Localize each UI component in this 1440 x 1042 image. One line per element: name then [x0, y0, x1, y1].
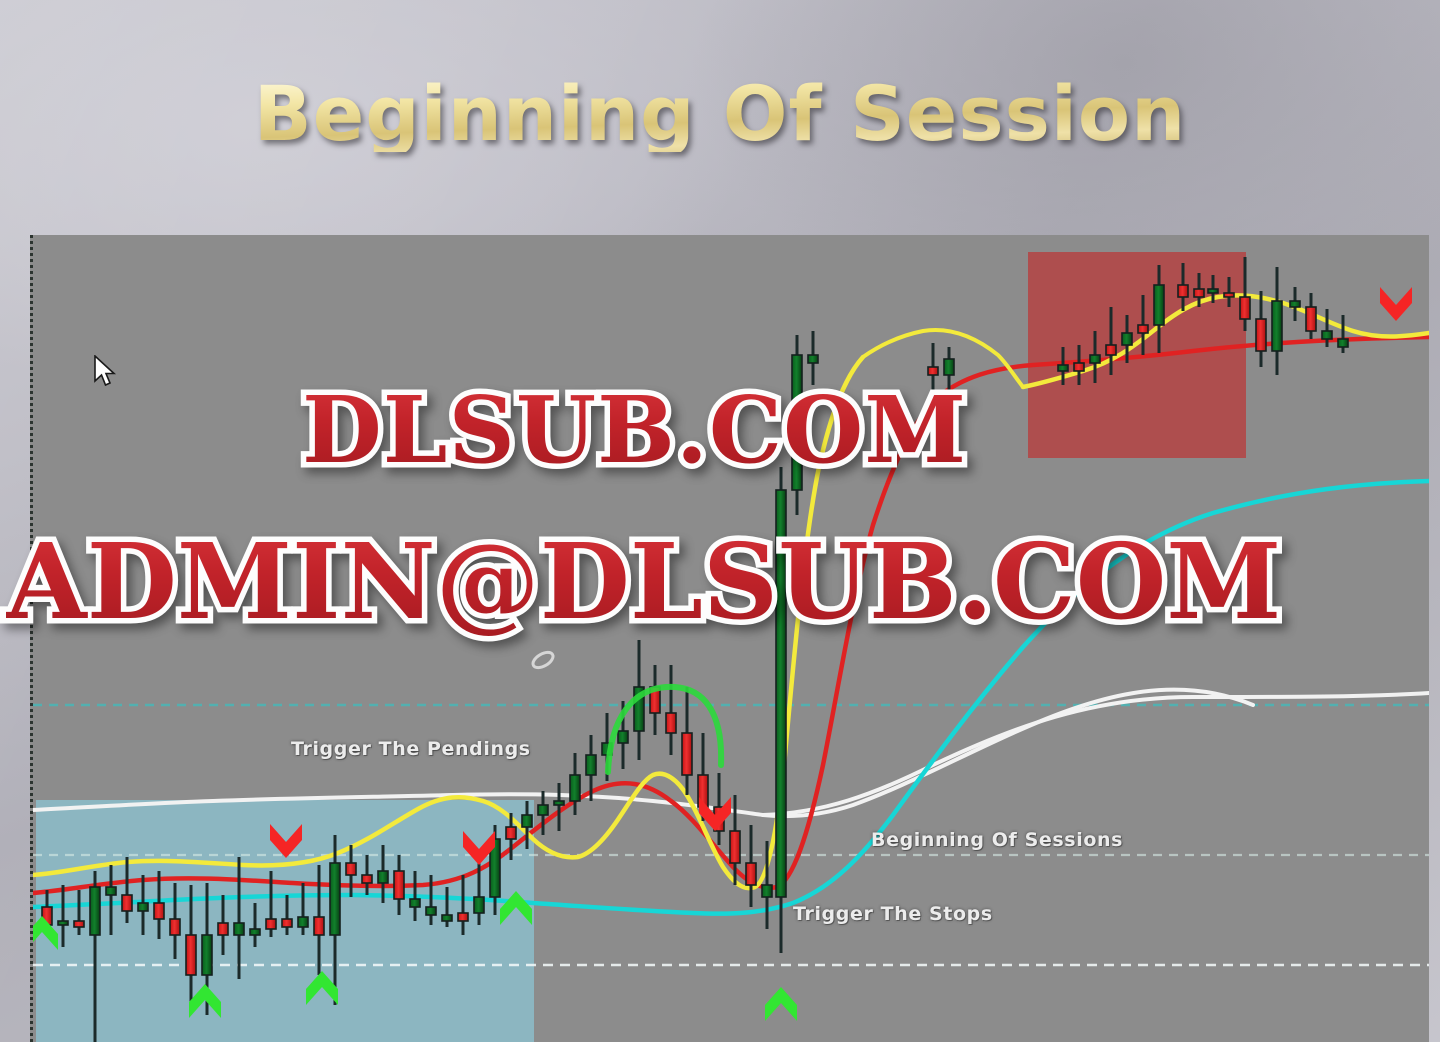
ma-red-line-upper — [938, 337, 1429, 397]
candle-bearish — [218, 923, 228, 935]
candle-bearish — [746, 863, 756, 885]
buy-arrow — [189, 984, 221, 1018]
candle-bullish — [1208, 289, 1218, 293]
candle-bearish — [1178, 285, 1188, 297]
candle-bearish — [154, 903, 164, 919]
candle-bearish — [282, 919, 292, 927]
candle-bearish — [1074, 363, 1084, 371]
candle-bullish — [250, 929, 260, 935]
candle-bearish — [346, 863, 356, 875]
candle-bullish — [1290, 301, 1300, 307]
annotation-beginning-of-sessions: Beginning Of Sessions — [871, 829, 1123, 851]
email-watermark: ADMIN@DLSUB.COM — [6, 520, 1281, 643]
candle-bullish — [554, 801, 564, 805]
candle-bullish — [618, 731, 628, 743]
ma-yellow-line-upper — [1023, 295, 1429, 387]
candle-bearish — [122, 895, 132, 911]
candle-bullish — [1322, 331, 1332, 339]
candle-bearish — [928, 367, 938, 375]
candle-bearish — [506, 827, 516, 839]
buy-arrow — [500, 891, 532, 925]
candle-bullish — [1338, 339, 1348, 347]
annotation-trigger-stops: Trigger The Stops — [793, 903, 993, 925]
sell-arrow — [270, 824, 302, 858]
mouse-cursor-icon — [93, 355, 119, 389]
candle-bullish — [138, 903, 148, 911]
candle-bearish — [1240, 297, 1250, 319]
candle-bearish — [170, 919, 180, 935]
candle-bearish — [394, 871, 404, 899]
oval-mark — [530, 649, 555, 670]
candle-bullish — [1272, 301, 1282, 351]
candle-bullish — [762, 885, 772, 897]
candle-bullish — [234, 923, 244, 935]
candle-bullish — [426, 907, 436, 915]
candle-bullish — [410, 899, 420, 907]
candle-bearish — [1256, 319, 1266, 351]
ma-white-line-right — [763, 693, 1429, 815]
candle-bearish — [730, 831, 740, 863]
buy-arrow — [765, 987, 797, 1021]
sell-arrow — [1380, 287, 1412, 321]
candle-bullish — [570, 775, 580, 801]
candle-bullish — [442, 915, 452, 921]
candle-bullish — [1090, 355, 1100, 363]
candle-bearish — [682, 733, 692, 775]
candle-bullish — [586, 755, 596, 775]
candle-bearish — [1194, 289, 1204, 297]
screenshot-root: Beginning Of Session — [0, 0, 1440, 1042]
site-watermark: DLSUB.COM — [302, 376, 967, 484]
candle-bullish — [538, 805, 548, 815]
candle-bearish — [1224, 293, 1234, 297]
candle-bearish — [74, 921, 84, 927]
candle-bullish — [474, 897, 484, 913]
page-title: Beginning Of Session — [0, 76, 1440, 152]
candle-bearish — [1106, 345, 1116, 355]
candle-bullish — [1154, 285, 1164, 325]
candle-bullish — [1122, 333, 1132, 345]
candle-bullish — [202, 935, 212, 975]
candle-bearish — [314, 917, 324, 935]
candle-bullish — [808, 355, 818, 363]
candle-bullish — [1058, 365, 1068, 371]
candle-bullish — [944, 359, 954, 375]
candle-bearish — [1138, 325, 1148, 333]
candle-bullish — [58, 921, 68, 925]
annotation-trigger-pendings: Trigger The Pendings — [291, 738, 531, 760]
candle-bearish — [186, 935, 196, 975]
candle-bearish — [266, 919, 276, 929]
candle-bullish — [522, 815, 532, 827]
candle-bearish — [666, 713, 676, 733]
candle-series — [42, 257, 1348, 1042]
candle-bullish — [90, 887, 100, 935]
candle-bearish — [458, 913, 468, 921]
candle-bullish — [106, 887, 116, 895]
buy-arrow — [306, 971, 338, 1005]
candle-bullish — [378, 871, 388, 883]
candle-bullish — [330, 863, 340, 935]
candle-bearish — [362, 875, 372, 883]
candle-bullish — [298, 917, 308, 927]
buy-arrow — [33, 916, 58, 950]
candle-bearish — [1306, 307, 1316, 331]
